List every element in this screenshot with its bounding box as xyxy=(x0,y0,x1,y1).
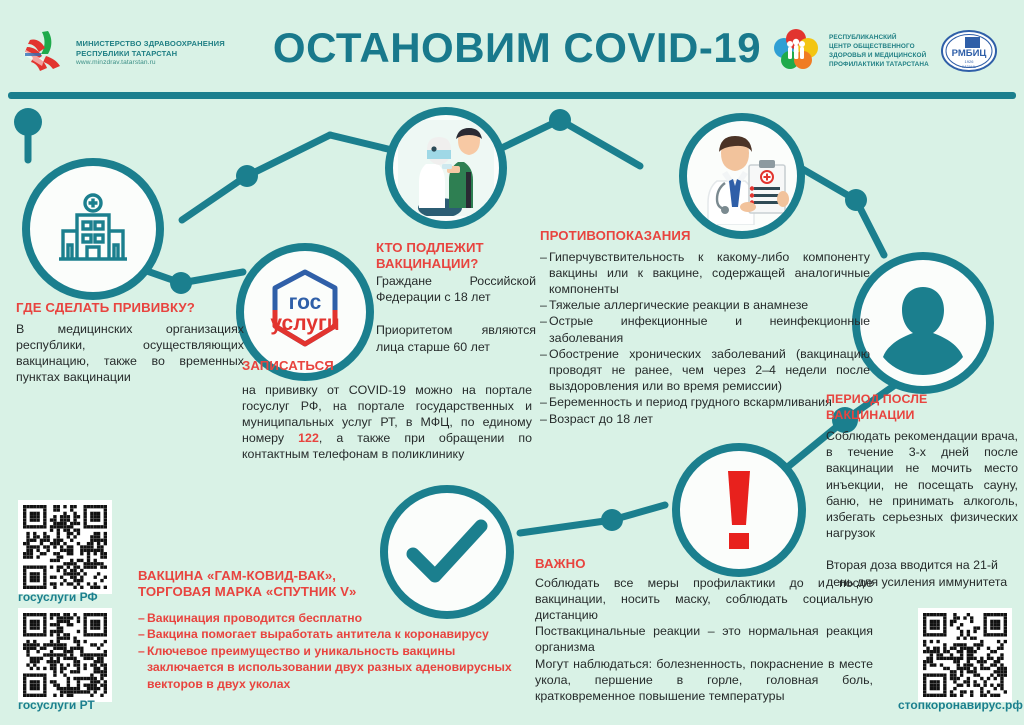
person-silhouette-icon xyxy=(871,271,975,375)
where-heading: ГДЕ СДЕЛАТЬ ПРИВИВКУ? xyxy=(16,300,244,316)
section-vaccine: ВАКЦИНА «ГАМ-КОВИД-ВАК», ТОРГОВАЯ МАРКА … xyxy=(138,568,523,692)
important-p2: Поствакцинальные реакции – это нормальна… xyxy=(535,623,873,655)
gosuslugi-logo: гос услуги xyxy=(257,264,353,360)
health-center-emblem-icon xyxy=(770,26,822,76)
vaccine-heading-line1: ВАКЦИНА «ГАМ-КОВИД-ВАК», xyxy=(138,568,523,584)
important-heading: ВАЖНО xyxy=(535,556,873,572)
important-p1: Соблюдать все меры профилактики до и пос… xyxy=(535,575,873,624)
svg-text:услуги: услуги xyxy=(270,312,339,335)
rmbic-logo: РМБИЦ 1926 КАЗАНЬ xyxy=(940,28,998,79)
list-item: Тяжелые аллергические реакции в анамнезе xyxy=(540,297,870,313)
list-item: Ключевое преимущество и уникальность вак… xyxy=(138,643,523,692)
list-item: Обострение хронических заболеваний (вакц… xyxy=(540,346,870,395)
header-divider xyxy=(8,92,1016,99)
poster-header: МИНИСТЕРСТВО ЗДРАВООХРАНЕНИЯ РЕСПУБЛИКИ … xyxy=(0,0,1024,98)
important-p3: Могут наблюдаться: болезненность, покрас… xyxy=(535,656,873,705)
qr-stopkoronavirus[interactable] xyxy=(918,608,1012,702)
who-heading-line2: ВАКЦИНАЦИИ? xyxy=(376,256,536,272)
section-who: КТО ПОДЛЕЖИТ ВАКЦИНАЦИИ? Граждане Россий… xyxy=(376,240,536,355)
health-center-line4: ПРОФИЛАКТИКИ ТАТАРСТАНА xyxy=(829,60,929,69)
qr-gosuslugi-rt[interactable] xyxy=(18,608,112,702)
list-item: Вакцинация проводится бесплатно xyxy=(138,610,523,626)
list-item: Возраст до 18 лет xyxy=(540,411,870,427)
qr-gosuslugi-rf-caption: госуслуги РФ xyxy=(18,590,98,604)
tatarstan-ministry-emblem-icon xyxy=(22,28,68,76)
rmbic-emblem-icon: РМБИЦ 1926 КАЗАНЬ xyxy=(940,28,998,74)
vaccine-list: Вакцинация проводится бесплатно Вакцина … xyxy=(138,610,523,692)
list-item: Беременность и период грудного вскармлив… xyxy=(540,394,870,410)
exclamation-mark-icon xyxy=(718,469,760,551)
page-title: ОСТАНОВИМ COVID-19 xyxy=(262,22,772,74)
signup-phone: 122 xyxy=(298,431,319,445)
section-contraindications: ПРОТИВОПОКАЗАНИЯ Гиперчувствительность к… xyxy=(540,228,870,427)
ministry-url: www.minzdrav.tatarstan.ru xyxy=(76,59,225,66)
qr-code-image xyxy=(23,505,107,589)
hospital-icon xyxy=(54,193,132,265)
after-body: Соблюдать рекомендации врача, в течение … xyxy=(826,428,1018,541)
ministry-name-line2: РЕСПУБЛИКИ ТАТАРСТАН xyxy=(76,49,225,59)
vaccination-illustration xyxy=(398,120,494,216)
svg-text:КАЗАНЬ: КАЗАНЬ xyxy=(962,65,977,69)
contraindications-heading: ПРОТИВОПОКАЗАНИЯ xyxy=(540,228,870,244)
signup-heading: ЗАПИСАТЬСЯ xyxy=(242,358,532,374)
qr-code-image xyxy=(23,613,107,697)
qr-gosuslugi-rt-caption: госуслуги РТ xyxy=(18,698,95,712)
health-center-line2: ЦЕНТР ОБЩЕСТВЕННОГО xyxy=(829,42,929,51)
vaccine-heading-line2: ТОРГОВАЯ МАРКА «СПУТНИК V» xyxy=(138,584,523,600)
who-body: Граждане Российской Федерации с 18 лет xyxy=(376,273,536,305)
svg-text:1926: 1926 xyxy=(965,59,975,64)
poster-root: МИНИСТЕРСТВО ЗДРАВООХРАНЕНИЯ РЕСПУБЛИКИ … xyxy=(0,0,1024,725)
svg-text:РМБИЦ: РМБИЦ xyxy=(952,48,987,59)
health-center-logo-block: РЕСПУБЛИКАНСКИЙ ЦЕНТР ОБЩЕСТВЕННОГО ЗДОР… xyxy=(770,26,929,76)
health-center-line3: ЗДОРОВЬЯ И МЕДИЦИНСКОЙ xyxy=(829,51,929,60)
contraindications-list: Гиперчувствительность к какому-либо комп… xyxy=(540,249,870,427)
svg-text:гос: гос xyxy=(289,291,322,314)
list-item: Вакцина помогает выработать антитела к к… xyxy=(138,626,523,642)
health-center-line1: РЕСПУБЛИКАНСКИЙ xyxy=(829,33,929,42)
who-heading-line1: КТО ПОДЛЕЖИТ xyxy=(376,240,536,256)
list-item: Острые инфекционные и неинфекционные заб… xyxy=(540,313,870,345)
who-note: Приоритетом являются лица старше 60 лет xyxy=(376,322,536,354)
doctor-clipboard-illustration xyxy=(693,127,791,225)
where-body: В медицинских организациях республики, о… xyxy=(16,321,244,386)
section-important: ВАЖНО Соблюдать все меры профилактики до… xyxy=(535,556,873,704)
node-doctor-clipboard xyxy=(679,113,805,239)
qr-gosuslugi-rf[interactable] xyxy=(18,500,112,594)
qr-code-image xyxy=(923,613,1007,697)
signup-body: на прививку от COVID-19 можно на портале… xyxy=(242,382,532,463)
node-person xyxy=(852,252,994,394)
after-heading: ПЕРИОД ПОСЛЕ ВАКЦИНАЦИИ xyxy=(826,392,1018,423)
node-vaccination-photo xyxy=(385,107,507,229)
ministry-logo-block: МИНИСТЕРСТВО ЗДРАВООХРАНЕНИЯ РЕСПУБЛИКИ … xyxy=(22,28,225,76)
ministry-name-line1: МИНИСТЕРСТВО ЗДРАВООХРАНЕНИЯ xyxy=(76,39,225,49)
section-signup: ЗАПИСАТЬСЯ на прививку от COVID-19 можно… xyxy=(242,358,532,463)
qr-stopkoronavirus-caption: стопкоронавирус.рф xyxy=(898,698,1023,712)
section-where: ГДЕ СДЕЛАТЬ ПРИВИВКУ? В медицинских орга… xyxy=(16,300,244,385)
list-item: Гиперчувствительность к какому-либо комп… xyxy=(540,249,870,298)
node-hospital xyxy=(22,158,164,300)
